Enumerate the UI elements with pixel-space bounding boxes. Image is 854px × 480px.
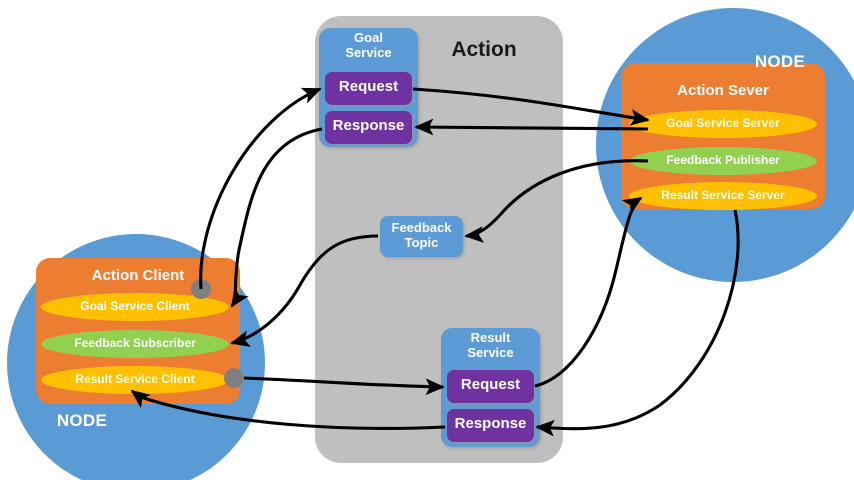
feedback-topic-box[interactable]	[380, 216, 463, 257]
goal-service-request-box[interactable]	[325, 72, 412, 105]
endpoint-result-service-client[interactable]	[41, 366, 229, 394]
diagram-canvas: Action Goal Service Request Response Res…	[0, 0, 854, 480]
goal-service-response-box[interactable]	[325, 111, 412, 144]
connector-dot-result-client	[224, 368, 244, 388]
endpoint-result-service-server[interactable]	[629, 182, 817, 210]
endpoint-feedback-publisher[interactable]	[629, 147, 817, 175]
result-service-response-box[interactable]	[447, 409, 534, 442]
endpoint-goal-service-server[interactable]	[629, 110, 817, 138]
result-service-request-box[interactable]	[447, 370, 534, 403]
connector-dot-goal-client	[191, 279, 211, 299]
endpoint-feedback-subscriber[interactable]	[41, 330, 229, 358]
diagram-shapes	[0, 0, 854, 480]
